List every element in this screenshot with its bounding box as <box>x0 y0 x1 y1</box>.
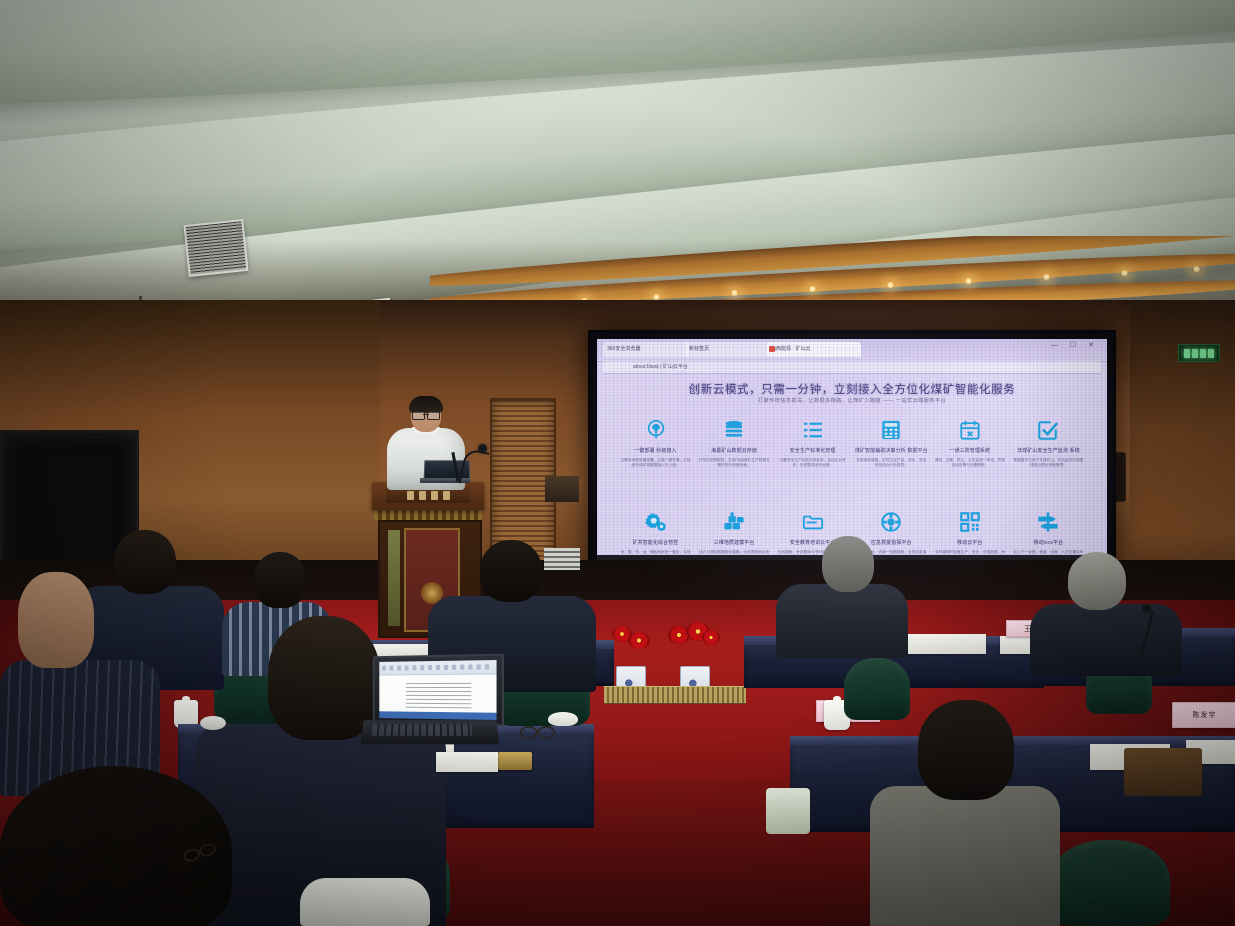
feature-caption: 矿井智能化综合管控 <box>619 541 692 547</box>
plastic-bag <box>766 788 810 834</box>
browser-tab-bar: 360安全浏览器 新标签页 山西能源 · 矿山云 — ☐ ✕ <box>597 339 1107 362</box>
audience-chair <box>1050 840 1170 926</box>
audience-member <box>0 572 160 792</box>
bamboo-fence-decor <box>604 686 746 704</box>
browser-tab[interactable]: 360安全浏览器 <box>603 342 689 357</box>
audience-member <box>870 700 1060 926</box>
checklist-icon <box>776 413 849 447</box>
signal-broadcast-icon <box>619 413 692 447</box>
laptop-lid <box>373 654 504 727</box>
ceiling-spotlight-icon <box>1120 270 1129 276</box>
ceiling-spotlight-icon <box>808 286 817 292</box>
podium-microphone-icon <box>458 440 490 488</box>
slide-feature-cell[interactable]: 三维地质建模平台 钻孔与物探数据融合建模，动态更新采区地质透明化模型。 <box>698 505 771 555</box>
slide-subtitle: 打破传统信息孤岛，让数据多跑路、让煤矿少跑腿 —— 一站式云端服务平台 <box>597 397 1107 404</box>
document-ribbon-toolbar <box>379 660 496 675</box>
qrcode-icon <box>933 505 1006 539</box>
calculator-icon <box>855 413 928 447</box>
conference-hall-photo: 360安全浏览器 新标签页 山西能源 · 矿山云 — ☐ ✕ about:bla… <box>0 0 1235 926</box>
ceiling-spotlight-icon <box>886 282 895 288</box>
podium-side-panel <box>388 530 400 626</box>
ceiling-spotlight-icon <box>1192 266 1201 272</box>
slide-feature-cell[interactable]: 移动GIS平台 井上下一张图，巷道、设备、人员位置实时定位与空间分析。 <box>1012 505 1085 555</box>
feature-body: 内置安全生产标准化条款库，自动比对考评，形成整改闭环台账。 <box>776 458 849 468</box>
presenter-glasses-icon <box>412 411 440 418</box>
window-controls[interactable]: — ☐ ✕ <box>1051 341 1099 349</box>
tab-favicon-icon <box>769 346 775 352</box>
feature-caption: 海量矿山数据云存储 <box>698 449 771 455</box>
document-status-bar <box>379 711 496 720</box>
laptop-base <box>360 720 499 744</box>
feature-body: 通风、瓦斯、粉尘、火灾监测一体化，异常自动告警与处置跟踪。 <box>933 458 1006 468</box>
poinsettia-bloom <box>702 630 720 645</box>
feature-caption: 一键部署 秒级接入 <box>619 449 692 455</box>
slide-icon-row-1: 一键部署 秒级接入 无需本地服务器部署，云端一键开通，分钟级完成矿端数据接入与上… <box>619 413 1085 468</box>
feature-body: 多维指标建模，实时生成产量、成本、安全风险综合分析报表。 <box>855 458 928 468</box>
slide-feature-cell[interactable]: 移动云平台 手机端随时查看生产、安全、设备数据，审批与告警随身处理。 <box>933 505 1006 555</box>
blocks-icon <box>698 505 771 539</box>
audience-member <box>776 536 908 654</box>
ceiling-spotlight-icon <box>964 278 973 284</box>
ceiling-spotlight-icon <box>730 290 739 296</box>
slide-content: 360安全浏览器 新标签页 山西能源 · 矿山云 — ☐ ✕ about:bla… <box>597 339 1107 555</box>
document-papers <box>900 634 986 654</box>
calendar-x-icon <box>933 413 1006 447</box>
slide-feature-cell[interactable]: 矿井智能化综合管控 采、掘、机、运、通各系统统一管控，实现少人化无人化作业。 <box>619 505 692 555</box>
gears-icon <box>619 505 692 539</box>
emergency-exit-sign-icon <box>1178 344 1220 362</box>
slide-feature-cell[interactable]: 非煤矿山安全生产监测 系统 覆盖露天与地下非煤矿山，在线监测与隐患排查治理全流程… <box>1012 413 1085 468</box>
slide-body: 创新云模式，只需一分钟，立刻接入全方位化煤矿智能化服务 打破传统信息孤岛，让数据… <box>597 375 1107 555</box>
laptop-keyboard[interactable] <box>372 724 473 736</box>
table-nameplate: 陈发宇 <box>1172 702 1235 728</box>
feature-caption: 非煤矿山安全生产监测 系统 <box>1012 449 1085 455</box>
table-microphone-head <box>1142 604 1151 613</box>
signpost-icon <box>1012 505 1085 539</box>
audience-member <box>1030 552 1182 672</box>
attendee-laptop[interactable] <box>362 655 498 747</box>
slide-feature-cell[interactable]: 一键部署 秒级接入 无需本地服务器部署，云端一键开通，分钟级完成矿端数据接入与上… <box>619 413 692 468</box>
folder-icon <box>776 505 849 539</box>
database-stack-icon <box>698 413 771 447</box>
slide-title: 创新云模式，只需一分钟，立刻接入全方位化煤矿智能化服务 <box>597 381 1107 397</box>
stacked-binders <box>545 476 579 502</box>
slide-feature-cell[interactable]: 安全生产标准化管理 内置安全生产标准化条款库，自动比对考评，形成整改闭环台账。 <box>776 413 849 468</box>
feature-body: 分布式存储架构，支持PB级煤矿生产数据长期归档与快速检索。 <box>698 458 771 468</box>
feature-caption: 移动云平台 <box>933 541 1006 547</box>
audience-member-foreground <box>0 766 270 926</box>
check-square-icon <box>1012 413 1085 447</box>
ceiling-air-vent-icon <box>183 219 248 277</box>
stacked-papers <box>544 548 580 570</box>
slide-feature-cell[interactable]: 海量矿山数据云存储 分布式存储架构，支持PB级煤矿生产数据长期归档与快速检索。 <box>698 413 771 468</box>
feature-caption: 安全生产标准化管理 <box>776 449 849 455</box>
smartphone[interactable] <box>498 752 532 770</box>
notebook <box>436 752 498 772</box>
audience-member-foreground <box>300 868 430 926</box>
feature-caption: 三维地质建模平台 <box>698 541 771 547</box>
feature-caption: 移动GIS平台 <box>1012 541 1085 547</box>
leather-folder <box>1124 748 1202 796</box>
browser-tab[interactable]: 新标签页 <box>685 342 771 357</box>
feature-body: 无需本地服务器部署，云端一键开通，分钟级完成矿端数据接入与上线。 <box>619 458 692 468</box>
saucer-lid <box>548 712 578 726</box>
feature-caption: 煤矿智能辅助决策分析 数据平台 <box>855 449 928 455</box>
address-bar[interactable]: about:blank | 矿山云平台 <box>603 361 1101 374</box>
ceiling-spotlight-icon <box>1042 274 1051 280</box>
laptop-document-screen <box>379 660 496 720</box>
podium-trim-band <box>374 510 482 520</box>
saucer-lid <box>200 716 226 730</box>
feature-caption: 一通三防管理系统 <box>933 449 1006 455</box>
document-text-lines <box>406 683 472 710</box>
lifebuoy-icon <box>855 505 928 539</box>
slide-feature-cell[interactable]: 一通三防管理系统 通风、瓦斯、粉尘、火灾监测一体化，异常自动告警与处置跟踪。 <box>933 413 1006 468</box>
feature-body: 覆盖露天与地下非煤矿山，在线监测与隐患排查治理全流程管理。 <box>1012 458 1085 468</box>
slide-feature-cell[interactable]: 煤矿智能辅助决策分析 数据平台 多维指标建模，实时生成产量、成本、安全风险综合分… <box>855 413 928 468</box>
browser-tab-active[interactable]: 山西能源 · 矿山云 <box>767 342 861 357</box>
poinsettia-bloom <box>628 632 650 649</box>
